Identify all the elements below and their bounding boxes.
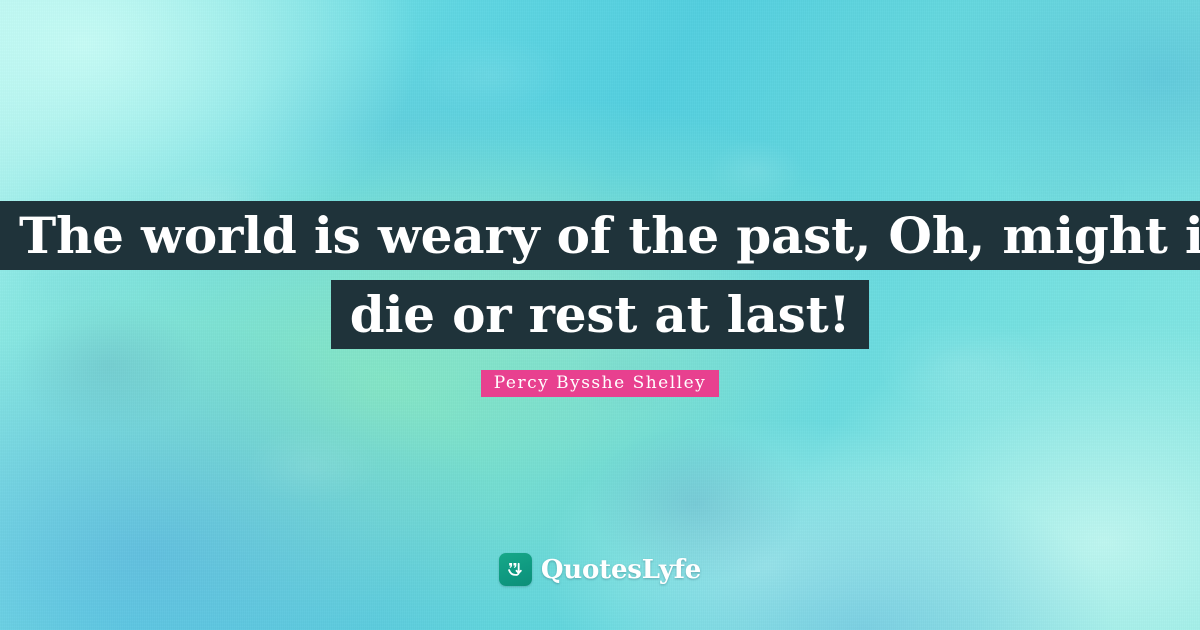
brand-footer: QuotesLyfe	[0, 553, 1200, 586]
brand-name-label: QuotesLyfe	[541, 555, 701, 585]
author-name-badge: Percy Bysshe Shelley	[481, 370, 720, 397]
quote-text-block: The world is weary of the past, Oh, migh…	[0, 201, 1200, 349]
quote-line-2-row: die or rest at last!	[0, 280, 1200, 349]
author-row: Percy Bysshe Shelley	[0, 370, 1200, 397]
quote-line-1: The world is weary of the past, Oh, migh…	[0, 201, 1200, 270]
quote-line-1-row: The world is weary of the past, Oh, migh…	[0, 201, 1200, 270]
quote-smiley-icon	[499, 553, 532, 586]
quote-line-2: die or rest at last!	[331, 280, 870, 349]
quote-card: The world is weary of the past, Oh, migh…	[0, 0, 1200, 630]
